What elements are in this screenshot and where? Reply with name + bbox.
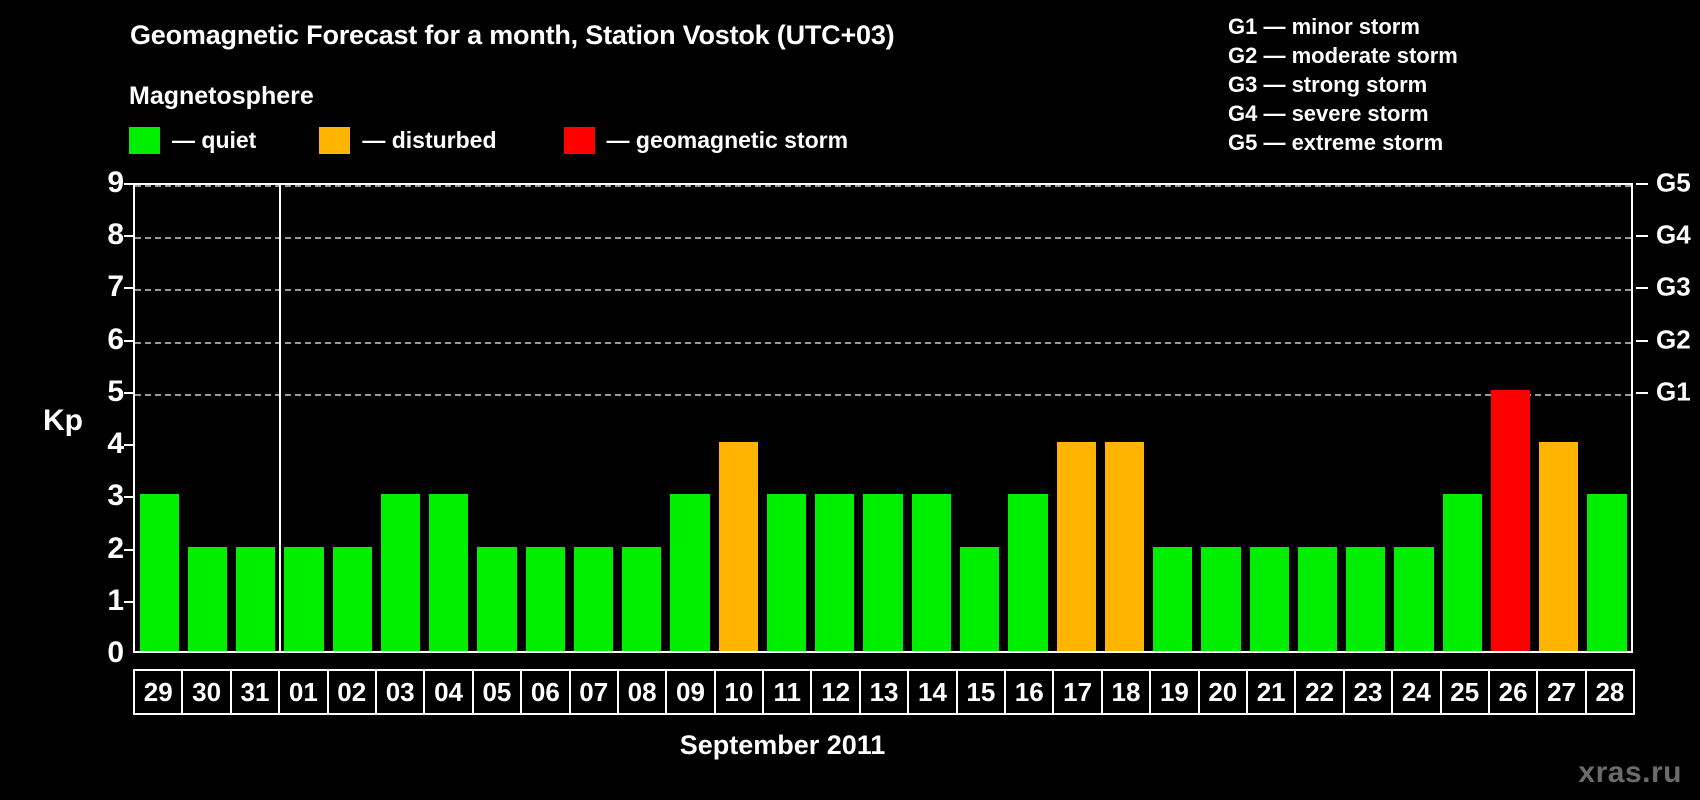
day-label-25[interactable]: 25 xyxy=(1440,669,1490,715)
day-label-04[interactable]: 04 xyxy=(423,669,473,715)
legend-label-disturbed: — disturbed xyxy=(362,127,496,154)
bar[interactable] xyxy=(140,494,179,651)
g-tick-label-G1: G1 xyxy=(1656,376,1691,407)
legend-swatch-storm xyxy=(564,127,595,154)
y-tick-label-7: 7 xyxy=(84,270,124,304)
y-tick-label-8: 8 xyxy=(84,218,124,252)
day-label-21[interactable]: 21 xyxy=(1246,669,1296,715)
watermark: xras.ru xyxy=(1578,756,1682,790)
bar-cell-04[interactable] xyxy=(425,185,473,651)
bar[interactable] xyxy=(960,547,999,651)
legend-swatch-quiet xyxy=(129,127,160,154)
g-tick-mark-G1 xyxy=(1636,392,1648,394)
bar-cell-28[interactable] xyxy=(1583,185,1631,651)
legend-label-storm: — geomagnetic storm xyxy=(607,127,849,154)
day-label-15[interactable]: 15 xyxy=(956,669,1006,715)
bar-cell-27[interactable] xyxy=(1535,185,1583,651)
bar-cell-29[interactable] xyxy=(135,185,183,651)
g-scale-line-4: G4 — severe storm xyxy=(1228,99,1458,128)
g-tick-label-G3: G3 xyxy=(1656,272,1691,303)
g-tick-label-G5: G5 xyxy=(1656,168,1691,199)
bar-cell-06[interactable] xyxy=(521,185,569,651)
bar-cell-03[interactable] xyxy=(376,185,424,651)
bar-cell-19[interactable] xyxy=(1149,185,1197,651)
magnetosphere-heading: Magnetosphere xyxy=(129,82,314,111)
y-axis-label: Kp xyxy=(43,404,83,438)
bar-cell-13[interactable] xyxy=(859,185,907,651)
bar[interactable] xyxy=(284,547,323,651)
day-label-19[interactable]: 19 xyxy=(1149,669,1199,715)
y-tick-label-4: 4 xyxy=(84,427,124,461)
day-label-17[interactable]: 17 xyxy=(1052,669,1102,715)
bar-cell-21[interactable] xyxy=(1245,185,1293,651)
bar-cell-10[interactable] xyxy=(714,185,762,651)
day-label-09[interactable]: 09 xyxy=(665,669,715,715)
day-label-14[interactable]: 14 xyxy=(907,669,957,715)
geomagnetic-forecast-chart: Geomagnetic Forecast for a month, Statio… xyxy=(0,0,1700,800)
bar-cell-30[interactable] xyxy=(183,185,231,651)
bar-cell-11[interactable] xyxy=(762,185,810,651)
day-label-20[interactable]: 20 xyxy=(1198,669,1248,715)
legend-label-quiet: — quiet xyxy=(172,127,256,154)
bar[interactable] xyxy=(815,494,854,651)
bar[interactable] xyxy=(863,494,902,651)
bar-cell-08[interactable] xyxy=(618,185,666,651)
bar[interactable] xyxy=(1587,494,1626,651)
bar[interactable] xyxy=(1298,547,1337,651)
day-label-02[interactable]: 02 xyxy=(327,669,377,715)
bar[interactable] xyxy=(1346,547,1385,651)
bar-cell-09[interactable] xyxy=(666,185,714,651)
bar[interactable] xyxy=(1153,547,1192,651)
g-scale-line-1: G1 — minor storm xyxy=(1228,12,1458,41)
day-label-16[interactable]: 16 xyxy=(1004,669,1054,715)
x-axis-day-labels: 2930310102030405060708091011121314151617… xyxy=(133,669,1633,715)
page-title: Geomagnetic Forecast for a month, Statio… xyxy=(130,20,894,51)
bar[interactable] xyxy=(236,547,275,651)
bar[interactable] xyxy=(1201,547,1240,651)
bar[interactable] xyxy=(912,494,951,651)
legend-item-quiet: — quiet xyxy=(129,127,256,154)
y-tick-label-2: 2 xyxy=(84,532,124,566)
g-scale-line-5: G5 — extreme storm xyxy=(1228,128,1458,157)
bar[interactable] xyxy=(670,494,709,651)
bar[interactable] xyxy=(1105,442,1144,651)
bar[interactable] xyxy=(1539,442,1578,651)
bar-cell-25[interactable] xyxy=(1438,185,1486,651)
bar-cell-14[interactable] xyxy=(907,185,955,651)
bar[interactable] xyxy=(1008,494,1047,651)
g-tick-mark-G2 xyxy=(1636,340,1648,342)
day-label-12[interactable]: 12 xyxy=(810,669,860,715)
bar[interactable] xyxy=(188,547,227,651)
g-tick-mark-G5 xyxy=(1636,183,1648,185)
bar[interactable] xyxy=(719,442,758,651)
bar[interactable] xyxy=(333,547,372,651)
bar-cell-20[interactable] xyxy=(1197,185,1245,651)
y-tick-label-9: 9 xyxy=(84,166,124,200)
y-tick-label-0: 0 xyxy=(84,636,124,670)
g-tick-mark-G3 xyxy=(1636,287,1648,289)
bar[interactable] xyxy=(1443,494,1482,651)
bar-cell-05[interactable] xyxy=(473,185,521,651)
day-label-13[interactable]: 13 xyxy=(859,669,909,715)
magnetosphere-legend: — quiet— disturbed— geomagnetic storm xyxy=(129,126,848,154)
day-label-30[interactable]: 30 xyxy=(181,669,231,715)
month-boundary-line xyxy=(279,185,281,651)
plot-area xyxy=(133,183,1633,653)
y-tick-label-1: 1 xyxy=(84,584,124,618)
day-label-26[interactable]: 26 xyxy=(1488,669,1538,715)
bar-cell-01[interactable] xyxy=(280,185,328,651)
day-label-24[interactable]: 24 xyxy=(1391,669,1441,715)
day-label-01[interactable]: 01 xyxy=(278,669,328,715)
legend-item-storm: — geomagnetic storm xyxy=(564,127,849,154)
legend-swatch-disturbed xyxy=(319,127,350,154)
bar-cell-02[interactable] xyxy=(328,185,376,651)
bar-cell-22[interactable] xyxy=(1293,185,1341,651)
x-axis-label: September 2011 xyxy=(0,730,1700,761)
bar-cell-18[interactable] xyxy=(1100,185,1148,651)
bar-cell-26[interactable] xyxy=(1486,185,1534,651)
g-scale-legend: G1 — minor stormG2 — moderate stormG3 — … xyxy=(1228,12,1458,157)
day-label-06[interactable]: 06 xyxy=(520,669,570,715)
g-tick-mark-G4 xyxy=(1636,235,1648,237)
day-label-10[interactable]: 10 xyxy=(714,669,764,715)
bar[interactable] xyxy=(767,494,806,651)
bar[interactable] xyxy=(477,547,516,651)
day-label-27[interactable]: 27 xyxy=(1536,669,1586,715)
g-scale-line-3: G3 — strong storm xyxy=(1228,70,1458,99)
y-tick-label-3: 3 xyxy=(84,479,124,513)
bar-cell-15[interactable] xyxy=(956,185,1004,651)
bar-cell-12[interactable] xyxy=(811,185,859,651)
bar-cell-24[interactable] xyxy=(1390,185,1438,651)
bar[interactable] xyxy=(526,547,565,651)
y-tick-label-6: 6 xyxy=(84,323,124,357)
bar-cell-17[interactable] xyxy=(1052,185,1100,651)
day-label-28[interactable]: 28 xyxy=(1585,669,1635,715)
bar[interactable] xyxy=(622,547,661,651)
bar-cell-31[interactable] xyxy=(232,185,280,651)
bar[interactable] xyxy=(574,547,613,651)
bar-cell-23[interactable] xyxy=(1342,185,1390,651)
bar-cell-16[interactable] xyxy=(1004,185,1052,651)
legend-item-disturbed: — disturbed xyxy=(319,127,496,154)
bar[interactable] xyxy=(381,494,420,651)
day-label-07[interactable]: 07 xyxy=(569,669,619,715)
day-label-18[interactable]: 18 xyxy=(1101,669,1151,715)
day-label-11[interactable]: 11 xyxy=(762,669,812,715)
day-label-05[interactable]: 05 xyxy=(472,669,522,715)
g-tick-label-G2: G2 xyxy=(1656,324,1691,355)
day-label-31[interactable]: 31 xyxy=(230,669,280,715)
day-label-23[interactable]: 23 xyxy=(1343,669,1393,715)
y-tick-label-5: 5 xyxy=(84,375,124,409)
bar[interactable] xyxy=(1491,390,1530,651)
day-label-08[interactable]: 08 xyxy=(617,669,667,715)
bar[interactable] xyxy=(1250,547,1289,651)
bar-series xyxy=(135,185,1631,651)
bar[interactable] xyxy=(1057,442,1096,651)
bar-cell-07[interactable] xyxy=(569,185,617,651)
g-scale-line-2: G2 — moderate storm xyxy=(1228,41,1458,70)
day-label-03[interactable]: 03 xyxy=(375,669,425,715)
bar[interactable] xyxy=(1394,547,1433,651)
bar[interactable] xyxy=(429,494,468,651)
day-label-22[interactable]: 22 xyxy=(1294,669,1344,715)
day-label-29[interactable]: 29 xyxy=(133,669,183,715)
g-tick-label-G4: G4 xyxy=(1656,220,1691,251)
